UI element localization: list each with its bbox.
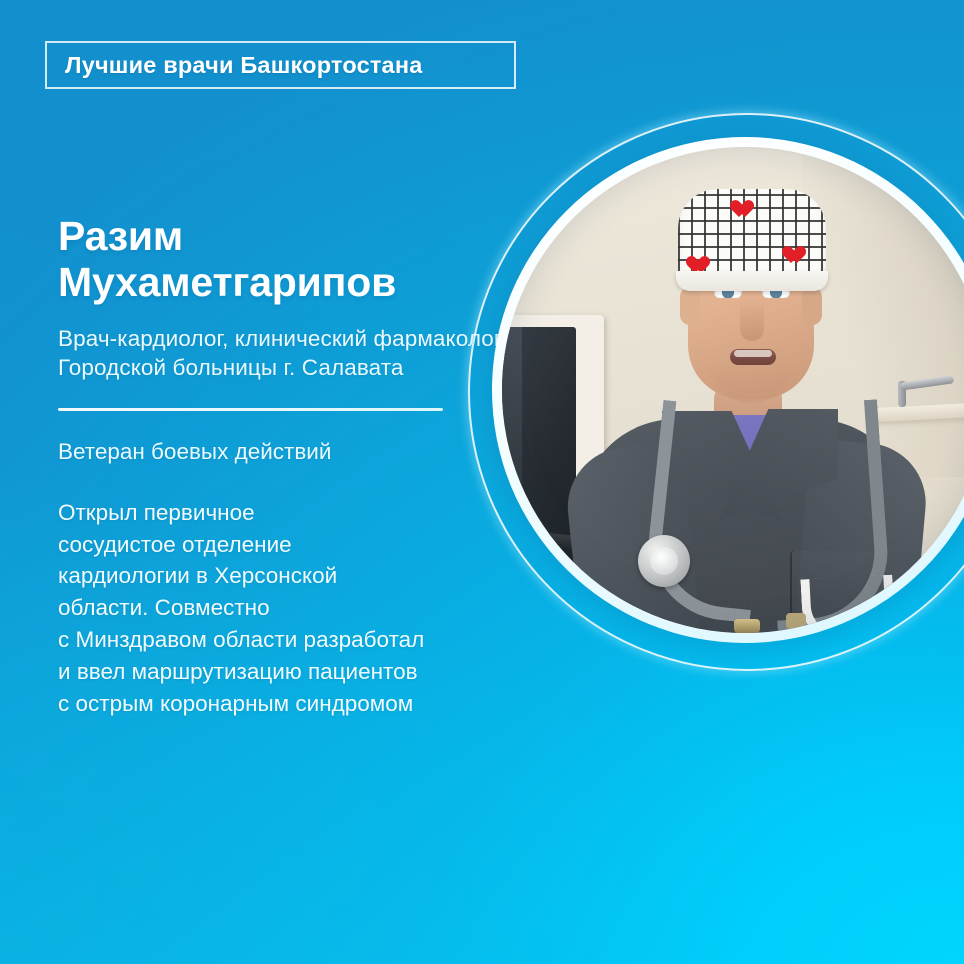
doctor-photo — [468, 113, 964, 667]
heart-icon — [734, 201, 754, 219]
doctor-name-line-1: Разим — [58, 213, 183, 259]
photo-stethoscope-diaphragm — [650, 547, 678, 575]
photo-cap-brim — [676, 271, 828, 291]
photo-image-clip — [502, 147, 964, 633]
heart-icon — [786, 247, 806, 265]
doctor-name-line-2: Мухаметгарипов — [58, 259, 396, 305]
photo-stethoscope-tip-left — [786, 613, 806, 629]
section-divider — [58, 408, 443, 411]
badge-label: Лучшие врачи Башкортостана — [65, 52, 423, 79]
doctor-profile-card: Лучшие врачи Башкортостана РазимМухаметг… — [0, 0, 964, 964]
photo-nose — [740, 299, 764, 341]
photo-ear-right — [802, 287, 822, 325]
photo-stethoscope-tip-right — [860, 609, 880, 625]
badge-best-doctors: Лучшие врачи Башкортостана — [45, 41, 516, 89]
photo-teeth — [734, 350, 772, 357]
photo-ear-left — [680, 287, 700, 325]
photo-badge-pin — [734, 619, 760, 633]
photo-stethoscope-lower-loop — [800, 575, 895, 633]
